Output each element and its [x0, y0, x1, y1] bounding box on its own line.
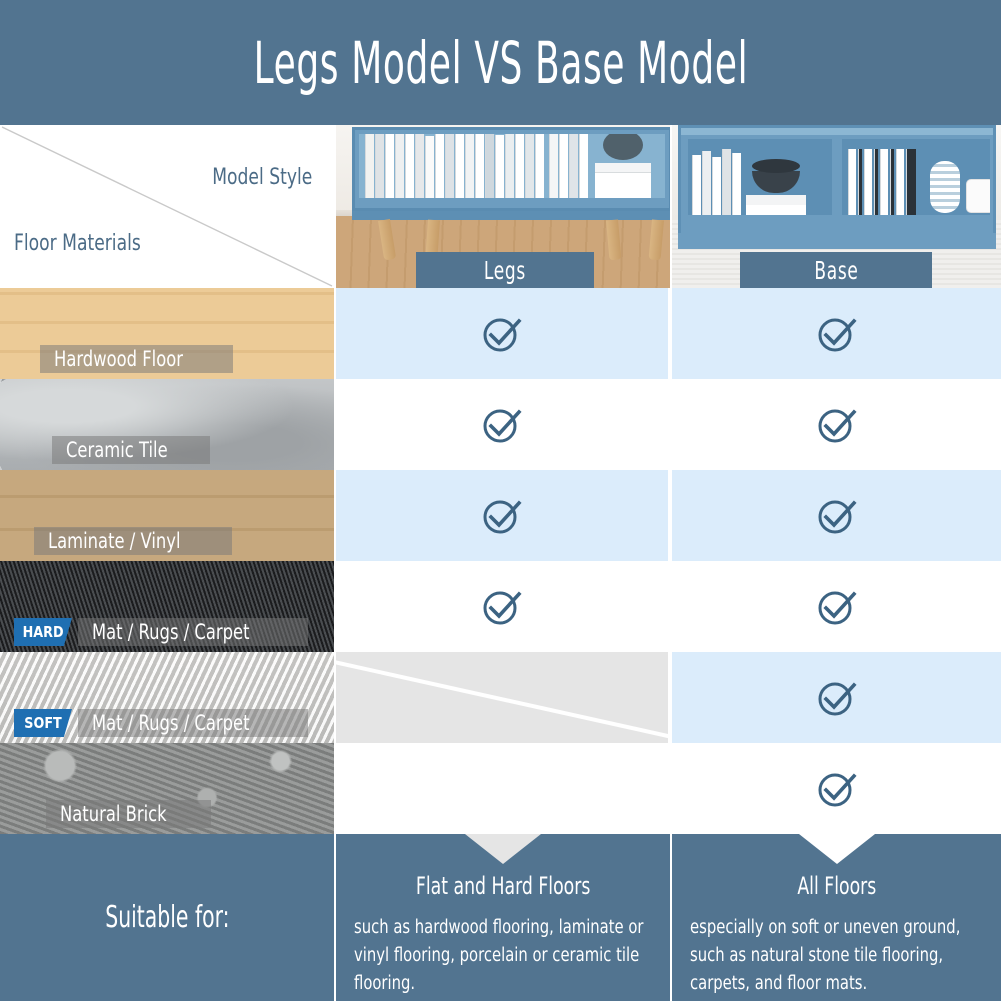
check-circle-icon — [478, 583, 526, 631]
material-label: Hardwood Floor — [40, 345, 233, 373]
cell-base-ceramic — [672, 379, 1001, 470]
material-swatch-natural-brick: Natural Brick — [0, 743, 334, 834]
material-label: Ceramic Tile — [52, 436, 210, 464]
column-header-legs-label: Legs — [484, 256, 526, 285]
footer-divider-2 — [670, 834, 672, 1001]
corner-diagonal-divider — [0, 125, 334, 288]
cell-legs-soft-carpet-unavailable — [336, 652, 670, 743]
legs-header-photo: Legs — [336, 125, 670, 288]
cell-base-natural-brick — [672, 743, 1001, 834]
photo-cabinet-plinth — [678, 233, 996, 249]
footer-legs-body: such as hardwood flooring, laminate or v… — [354, 914, 652, 997]
material-swatch-hardwood: Hardwood Floor — [0, 288, 334, 379]
material-label: Mat / Rugs / Carpet — [78, 618, 308, 646]
photo-canister — [966, 179, 993, 213]
cell-base-hardwood — [672, 288, 1001, 379]
cell-legs-hardwood — [336, 288, 670, 379]
corner-header-cell: Model Style Floor Materials — [0, 125, 334, 288]
check-circle-icon — [813, 310, 861, 358]
column-header-base-label: Base — [814, 256, 858, 285]
chart-title-bar: Legs Model VS Base Model — [0, 0, 1001, 125]
hard-badge: HARD — [14, 618, 72, 646]
footer-notch-icon — [799, 834, 875, 864]
column-divider-1 — [334, 125, 336, 834]
photo-cabinet-compartment — [839, 136, 993, 218]
check-circle-icon — [813, 674, 861, 722]
footer-base-body: especially on soft or uneven ground, suc… — [690, 914, 983, 997]
footer-legs-heading: Flat and Hard Floors — [354, 872, 652, 900]
page-title: Legs Model VS Base Model — [253, 29, 748, 97]
footer-divider-1 — [334, 834, 336, 1001]
material-label: Mat / Rugs / Carpet — [78, 709, 308, 737]
cell-legs-laminate — [336, 470, 670, 561]
cell-legs-hard-carpet — [336, 561, 670, 652]
photo-cabinet-compartment — [685, 136, 835, 218]
column-divider-2 — [670, 125, 672, 834]
photo-cabinet-top — [681, 128, 993, 135]
photo-cabinet-shelf — [359, 134, 665, 198]
corner-label-model-style: Model Style — [212, 165, 312, 190]
material-swatch-ceramic: Ceramic Tile — [0, 379, 334, 470]
photo-cabinet-body — [352, 127, 670, 211]
photo-cabinet-underside — [352, 211, 670, 220]
material-label: Natural Brick — [46, 800, 211, 828]
photo-vase — [930, 161, 960, 213]
suitable-for-label: Suitable for: — [0, 834, 334, 1001]
photo-cabinet-body — [678, 125, 996, 237]
corner-label-floor-materials: Floor Materials — [14, 231, 141, 256]
material-swatch-soft-carpet: SOFT Mat / Rugs / Carpet — [0, 652, 334, 743]
check-circle-icon — [813, 583, 861, 631]
footer-legs-description: Flat and Hard Floors such as hardwood fl… — [336, 834, 670, 1001]
cell-base-soft-carpet — [672, 652, 1001, 743]
check-circle-icon — [813, 401, 861, 449]
cell-base-laminate — [672, 470, 1001, 561]
footer-base-heading: All Floors — [690, 872, 983, 900]
cell-legs-ceramic — [336, 379, 670, 470]
material-label: Laminate / Vinyl — [34, 527, 232, 555]
check-circle-icon — [813, 492, 861, 540]
base-header-photo: Base — [672, 125, 1001, 288]
comparison-chart: Legs Model VS Base Model Model Style Flo… — [0, 0, 1001, 1001]
soft-badge: SOFT — [14, 709, 72, 737]
footer-base-description: All Floors especially on soft or uneven … — [672, 834, 1001, 1001]
check-circle-icon — [478, 492, 526, 540]
footer-notch-icon — [465, 834, 541, 864]
check-circle-icon — [478, 310, 526, 358]
column-header-legs: Legs — [416, 252, 594, 288]
check-circle-icon — [478, 401, 526, 449]
check-circle-icon — [813, 765, 861, 813]
material-swatch-hard-carpet: HARD Mat / Rugs / Carpet — [0, 561, 334, 652]
cell-base-hard-carpet — [672, 561, 1001, 652]
footer-section: Suitable for: Flat and Hard Floors such … — [0, 834, 1001, 1001]
material-swatch-laminate: Laminate / Vinyl — [0, 470, 334, 561]
column-header-base: Base — [740, 252, 932, 288]
